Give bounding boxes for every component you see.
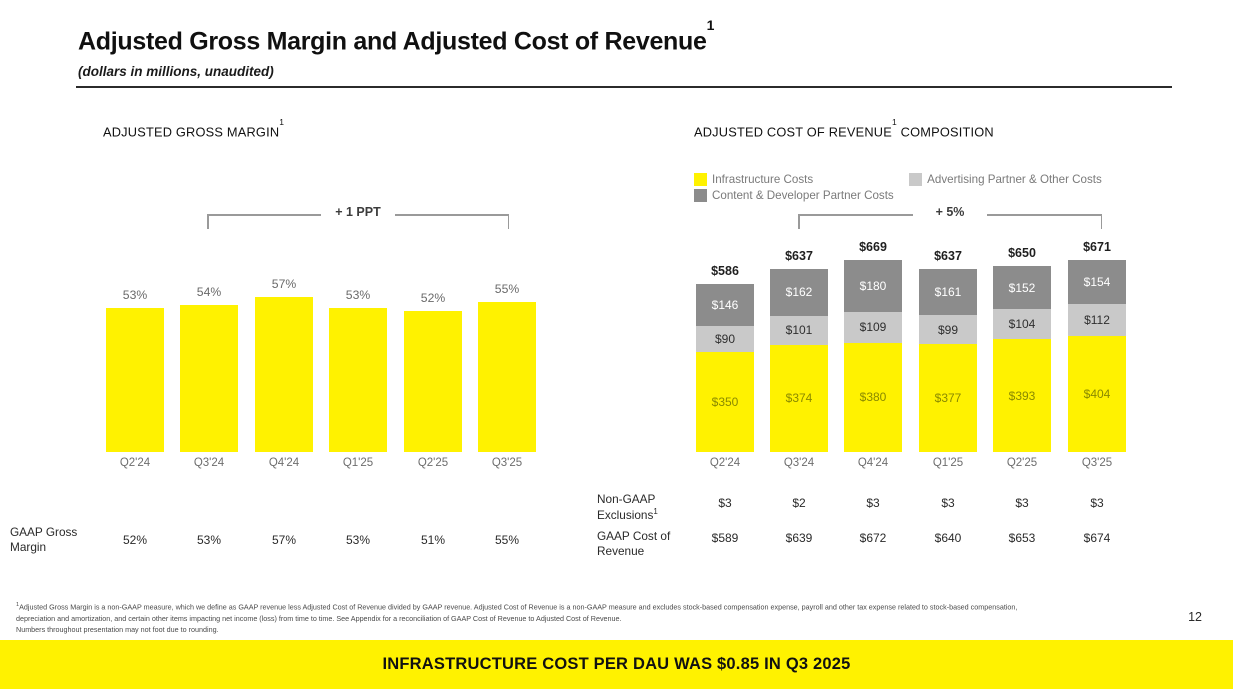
segment-content-developer-partner-costs-Q125[interactable]: $161: [919, 269, 977, 315]
right-chart-bracket-tick-right: [1101, 214, 1103, 229]
segment-advertising-partner-other-costs-Q324[interactable]: $101: [770, 316, 828, 345]
cost-table-row-label-line1-1: GAAP Cost of: [597, 529, 693, 544]
segment-infrastructure-costs-Q324[interactable]: $374: [770, 345, 828, 452]
cost-table-row-label-footnote-marker: 1: [653, 507, 657, 516]
cost-table-row-label-gaap-cost-of-revenue: GAAP Cost ofRevenue: [597, 529, 693, 558]
x-axis-label-cost-Q325: Q3'25: [1052, 457, 1142, 469]
cost-table-row-label-line2-0: Exclusions1: [597, 507, 693, 523]
segment-advertising-partner-other-costs-Q224[interactable]: $90: [696, 326, 754, 352]
segment-infrastructure-costs-Q224[interactable]: $350: [696, 352, 754, 452]
stacked-bar-Q325[interactable]: $154$112$404: [1068, 260, 1126, 452]
segment-advertising-partner-other-costs-Q424[interactable]: $109: [844, 312, 902, 343]
segment-infrastructure-costs-Q225[interactable]: $393: [993, 339, 1051, 452]
gaap-gross-margin-row-label-line2: Margin: [10, 540, 105, 555]
footnote-line-3: Numbers throughout presentation may not …: [16, 625, 219, 634]
gaap-gross-margin-cell-Q325: 55%: [464, 533, 550, 547]
gaap-gross-margin-row-label-line1: GAAP Gross: [10, 525, 105, 540]
bottom-banner-text: INFRASTRUCTURE COST PER DAU WAS $0.85 IN…: [382, 655, 850, 674]
segment-infrastructure-costs-Q325[interactable]: $404: [1068, 336, 1126, 452]
non-gaap-exclusions-cell-Q325: $3: [1052, 496, 1142, 510]
gaap-cost-of-revenue-cell-Q325: $674: [1052, 531, 1142, 545]
footnote-line-2: depreciation and amortization, and certa…: [16, 614, 622, 623]
stacked-bar-Q224[interactable]: $146$90$350: [696, 284, 754, 452]
segment-advertising-partner-other-costs-Q225[interactable]: $104: [993, 309, 1051, 339]
stacked-bar-total-Q224: $586: [680, 264, 770, 278]
right-chart-bracket-line-left: [798, 214, 913, 216]
segment-infrastructure-costs-Q125[interactable]: $377: [919, 344, 977, 452]
segment-content-developer-partner-costs-Q324[interactable]: $162: [770, 269, 828, 315]
gaap-gross-margin-cell-Q324: 53%: [166, 533, 252, 547]
adjusted-cost-of-revenue-chart: $146$90$350$586Q2'24$162$101$374$637Q3'2…: [0, 0, 1233, 480]
segment-content-developer-partner-costs-Q224[interactable]: $146: [696, 284, 754, 326]
cost-table-row-label-line2-1: Revenue: [597, 544, 693, 559]
gaap-gross-margin-row-label: GAAP GrossMargin: [10, 525, 105, 554]
segment-advertising-partner-other-costs-Q125[interactable]: $99: [919, 315, 977, 343]
segment-content-developer-partner-costs-Q225[interactable]: $152: [993, 266, 1051, 310]
segment-advertising-partner-other-costs-Q325[interactable]: $112: [1068, 304, 1126, 336]
bottom-banner: INFRASTRUCTURE COST PER DAU WAS $0.85 IN…: [0, 640, 1233, 689]
right-chart-bracket-tick-left: [798, 214, 800, 229]
stacked-bar-Q424[interactable]: $180$109$380: [844, 260, 902, 452]
stacked-bar-Q324[interactable]: $162$101$374: [770, 269, 828, 452]
stacked-bar-Q125[interactable]: $161$99$377: [919, 269, 977, 452]
footnote: 1Adjusted Gross Margin is a non-GAAP mea…: [16, 601, 1176, 635]
right-chart-bracket-line-right: [987, 214, 1102, 216]
segment-content-developer-partner-costs-Q424[interactable]: $180: [844, 260, 902, 312]
segment-content-developer-partner-costs-Q325[interactable]: $154: [1068, 260, 1126, 304]
footnote-line-1: Adjusted Gross Margin is a non-GAAP meas…: [19, 602, 1017, 611]
right-chart-bracket-label: + 5%: [913, 205, 987, 219]
cost-table-row-label-line1-0: Non-GAAP: [597, 492, 693, 507]
right-chart-bracket: + 5%: [798, 214, 1102, 232]
page-number: 12: [1188, 610, 1202, 624]
stacked-bar-Q225[interactable]: $152$104$393: [993, 266, 1051, 452]
cost-table-row-label-non-gaap-exclusions: Non-GAAPExclusions1: [597, 492, 693, 522]
stacked-bar-total-Q325: $671: [1052, 240, 1142, 254]
segment-infrastructure-costs-Q424[interactable]: $380: [844, 343, 902, 452]
gaap-gross-margin-cell-Q125: 53%: [315, 533, 401, 547]
